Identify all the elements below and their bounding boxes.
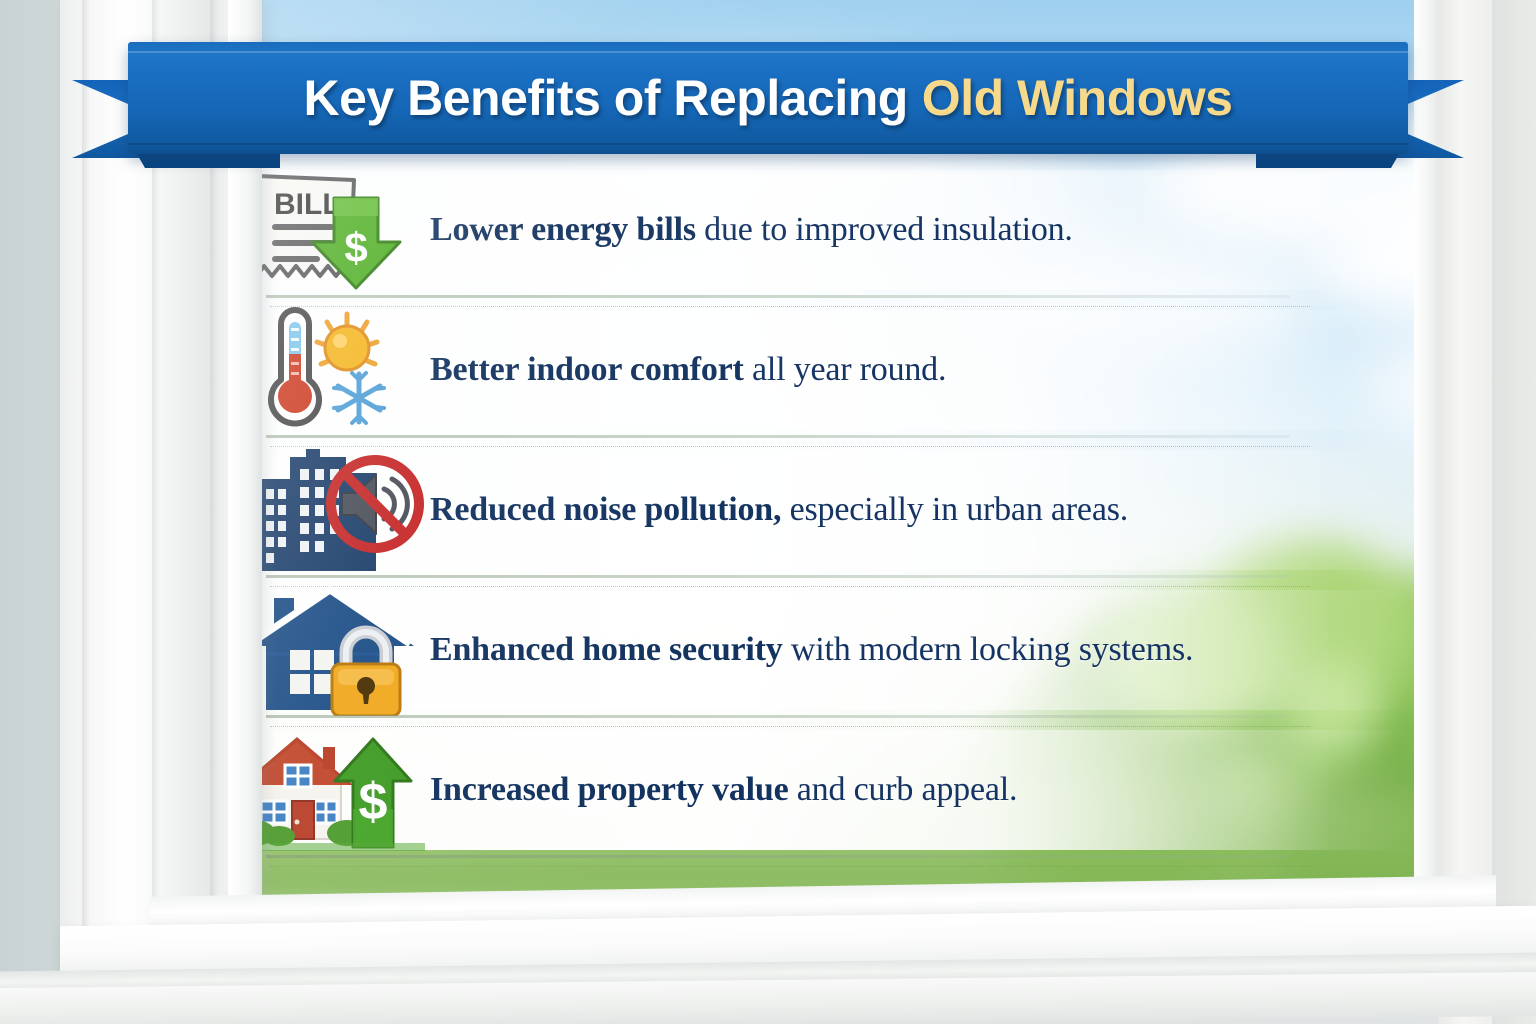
svg-text:$: $ xyxy=(344,224,367,271)
row-divider xyxy=(266,295,1290,298)
benefit-text: Lower energy bills due to improved insul… xyxy=(430,211,1410,249)
row-divider-dotted xyxy=(270,866,1310,867)
benefit-text-rest: and curb appeal. xyxy=(788,771,1017,808)
row-divider xyxy=(266,855,1290,858)
title-ribbon: Key Benefits of Replacing Old Windows xyxy=(0,34,1536,164)
benefits-list: BILL $ Lower energy bills due to improve… xyxy=(230,160,1410,860)
page-title-highlight: Old Windows xyxy=(922,69,1233,127)
benefit-row: Better indoor comfort all year round. xyxy=(230,300,1410,440)
page-title-main: Key Benefits of Replacing xyxy=(304,69,908,127)
benefit-row: BILL $ Lower energy bills due to improve… xyxy=(230,160,1410,300)
infographic-canvas: BILL $ Lower energy bills due to improve… xyxy=(0,0,1536,1024)
benefit-text-rest: especially in urban areas. xyxy=(781,491,1128,528)
benefit-row: $ Increased property value and curb appe… xyxy=(230,720,1410,860)
benefit-text-rest: with modern locking systems. xyxy=(783,631,1194,668)
row-divider xyxy=(266,715,1290,718)
benefit-text-bold: Enhanced home security xyxy=(430,631,783,668)
house-padlock-icon xyxy=(240,584,420,716)
row-divider xyxy=(266,575,1290,578)
page-title: Key Benefits of Replacing Old Windows xyxy=(128,42,1408,154)
benefit-text: Increased property value and curb appeal… xyxy=(430,771,1410,809)
benefit-text: Better indoor comfort all year round. xyxy=(430,351,1410,389)
thermometer-sun-snowflake-icon xyxy=(255,306,405,434)
benefit-text-rest: all year round. xyxy=(744,351,947,388)
row-divider xyxy=(266,435,1290,438)
benefit-text: Enhanced home security with modern locki… xyxy=(430,631,1410,669)
bill-down-arrow-icon: BILL $ xyxy=(246,166,414,294)
house-up-arrow-dollar-icon: $ xyxy=(235,729,425,851)
svg-text:$: $ xyxy=(359,773,388,831)
benefit-text-bold: Reduced noise pollution, xyxy=(430,491,781,528)
ribbon-body: Key Benefits of Replacing Old Windows xyxy=(128,42,1408,154)
benefit-row: Reduced noise pollution, especially in u… xyxy=(230,440,1410,580)
benefit-text-bold: Better indoor comfort xyxy=(430,351,744,388)
bill-label: BILL xyxy=(274,188,341,221)
benefit-row: Enhanced home security with modern locki… xyxy=(230,580,1410,720)
benefit-text: Reduced noise pollution, especially in u… xyxy=(430,491,1410,529)
benefit-text-bold: Increased property value xyxy=(430,771,788,808)
benefit-text-rest: due to improved insulation. xyxy=(696,211,1073,248)
benefit-text-bold: Lower energy bills xyxy=(430,211,696,248)
